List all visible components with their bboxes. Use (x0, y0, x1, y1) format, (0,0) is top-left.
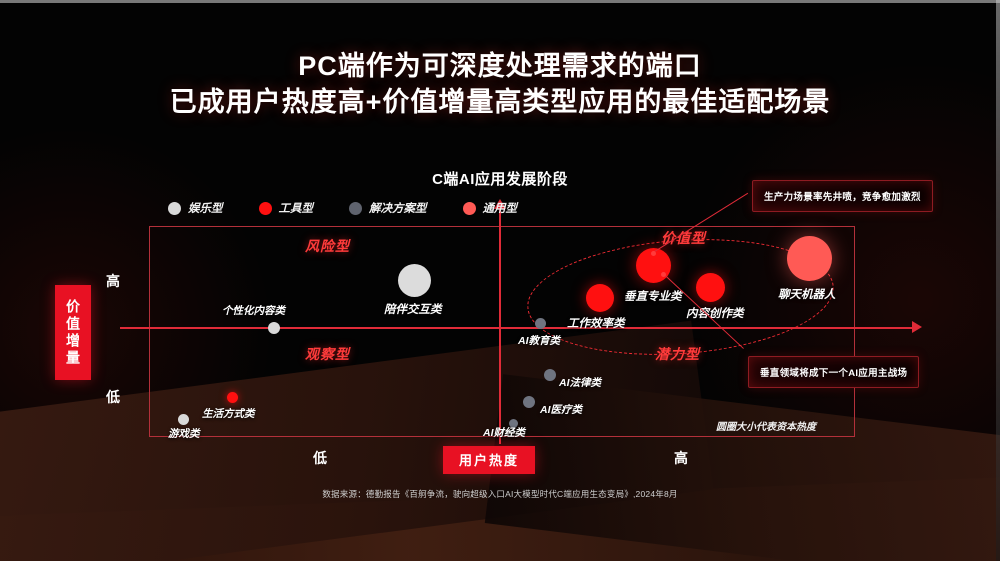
legend-label: 娱乐型 (188, 200, 223, 216)
source-note: 数据来源：德勤报告《百舸争流，驶向超级入口AI大模型时代C端应用生态变局》,20… (0, 488, 1000, 500)
bubble-ai-legal[interactable] (544, 369, 556, 381)
legend-item-general[interactable]: 通用型 (463, 200, 518, 216)
bubble-work-efficiency[interactable] (586, 284, 614, 312)
quadrant-label-value: 价值型 (661, 228, 706, 248)
bubble-label-work-efficiency: 工作效率类 (567, 315, 625, 331)
bubble-companion-interaction[interactable] (398, 264, 431, 297)
bubble-label-content-creation: 内容创作类 (686, 305, 744, 321)
bubble-size-note: 圆圈大小代表资本热度 (716, 418, 816, 433)
x-axis-label: 用户热度 (459, 453, 519, 468)
legend-dot-icon (349, 202, 362, 215)
slide-title: PC端作为可深度处理需求的端口 已成用户热度高+价值增量高类型应用的最佳适配场景 (0, 48, 1000, 120)
legend-label: 解决方案型 (369, 200, 427, 216)
y-axis-tick-high: 高 (106, 271, 120, 291)
callout-vertical-domain: 垂直领域将成下一个AI应用主战场 (748, 356, 919, 388)
legend-item-tool[interactable]: 工具型 (259, 200, 314, 216)
callout-productivity: 生产力场景率先井喷，竞争愈加激烈 (752, 180, 933, 212)
bubble-label-companion-interaction: 陪伴交互类 (384, 301, 442, 317)
bubble-chatbot[interactable] (787, 236, 832, 281)
callout-anchor-dot-1 (651, 251, 656, 256)
callout-text: 垂直领域将成下一个AI应用主战场 (760, 368, 907, 379)
bubble-label-ai-education: AI教育类 (518, 333, 560, 348)
legend-item-entertainment[interactable]: 娱乐型 (168, 200, 223, 216)
y-axis-label-badge: 价值增量 (55, 285, 91, 380)
bubble-ai-healthcare[interactable] (523, 396, 535, 408)
x-axis-label-badge: 用户热度 (443, 446, 535, 474)
chart-legend: 娱乐型 工具型 解决方案型 通用型 (168, 200, 517, 216)
quadrant-label-potential: 潜力型 (655, 344, 700, 364)
y-axis-tick-low: 低 (106, 387, 120, 407)
bubble-lifestyle[interactable] (227, 392, 238, 403)
legend-label: 工具型 (279, 200, 314, 216)
y-axis-label: 价值增量 (63, 299, 83, 367)
bubble-label-ai-healthcare: AI医疗类 (540, 402, 582, 417)
bubble-label-game: 游戏类 (168, 426, 200, 441)
legend-dot-icon (463, 202, 476, 215)
quadrant-label-observe: 观察型 (305, 344, 350, 364)
top-edge-line (0, 0, 1000, 3)
legend-dot-icon (259, 202, 272, 215)
legend-label: 通用型 (483, 200, 518, 216)
title-line-2: 已成用户热度高+价值增量高类型应用的最佳适配场景 (0, 84, 1000, 120)
x-axis-arrow-icon (912, 321, 922, 333)
bubble-label-ai-finance: AI财经类 (483, 425, 525, 440)
bubble-ai-education[interactable] (535, 318, 546, 329)
bubble-label-ai-legal: AI法律类 (559, 375, 601, 390)
bubble-game[interactable] (178, 414, 189, 425)
x-axis-tick-low: 低 (313, 448, 327, 468)
callout-anchor-dot-2 (661, 272, 666, 277)
bubble-label-lifestyle: 生活方式类 (202, 406, 255, 421)
callout-text: 生产力场景率先井喷，竞争愈加激烈 (764, 192, 921, 203)
quadrant-label-risk: 风险型 (305, 236, 350, 256)
bubble-label-vertical-professional: 垂直专业类 (624, 288, 682, 304)
bubble-content-creation[interactable] (696, 273, 725, 302)
legend-dot-icon (168, 202, 181, 215)
title-line-1: PC端作为可深度处理需求的端口 (0, 48, 1000, 84)
bubble-label-personalized-content: 个性化内容类 (222, 303, 285, 318)
y-axis-line (499, 208, 501, 444)
legend-item-solution[interactable]: 解决方案型 (349, 200, 427, 216)
x-axis-tick-high: 高 (674, 448, 688, 468)
bubble-personalized-content[interactable] (268, 322, 280, 334)
x-axis-line (120, 327, 918, 329)
bubble-label-chatbot: 聊天机器人 (778, 286, 836, 302)
